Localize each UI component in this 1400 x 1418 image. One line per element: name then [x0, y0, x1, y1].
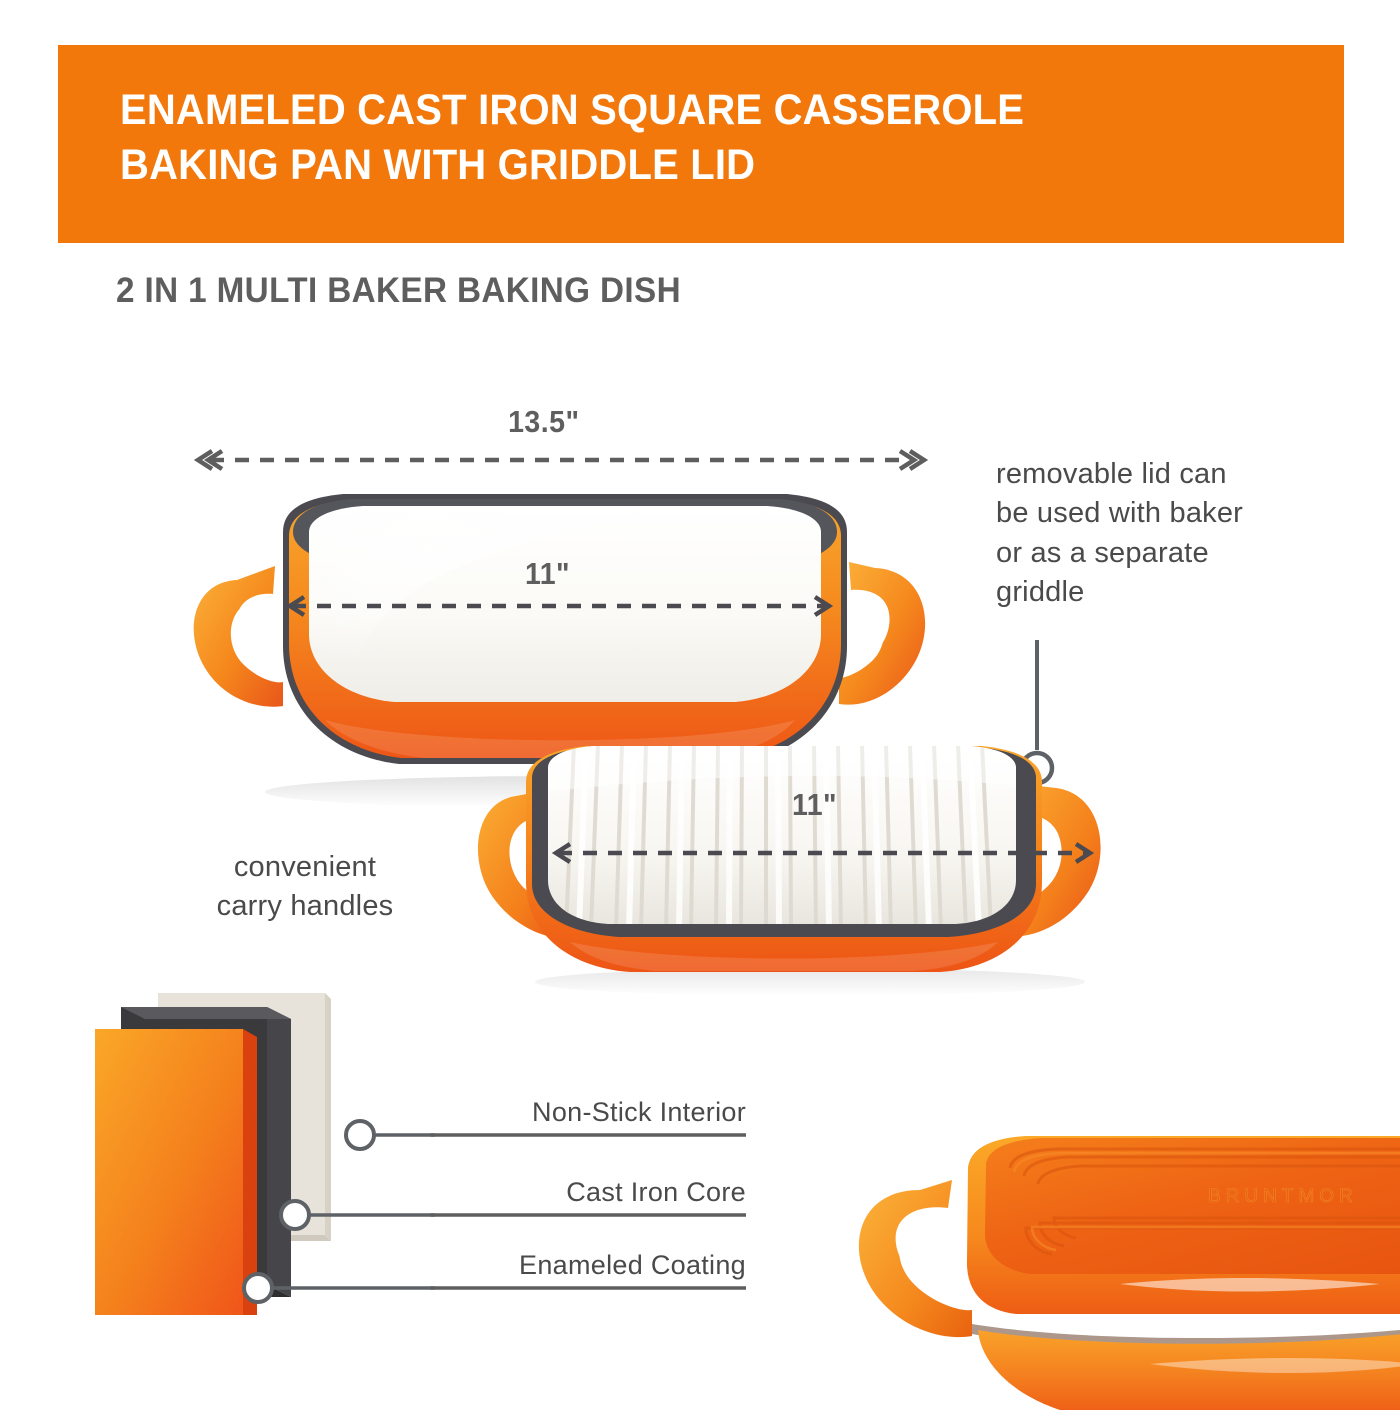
dimension-label-outer-width: 13.5" — [508, 404, 579, 440]
material-layers-diagram — [95, 985, 435, 1315]
callout-removable-lid: removable lid can be used with baker or … — [996, 455, 1346, 613]
casserole-handle-left — [859, 1180, 972, 1337]
layer-label-enameled-coating: Enameled Coating — [406, 1250, 746, 1281]
baker-handle-left — [194, 566, 285, 707]
callout-carry-handles: convenient carry handles — [180, 848, 430, 927]
dimension-arrow-baker-inner-width — [272, 594, 847, 618]
page-title: ENAMELED CAST IRON SQUARE CASSEROLE BAKI… — [120, 83, 1236, 193]
dimension-arrow-griddle-inner-width — [538, 841, 1108, 865]
brand-emboss-text: BRUNTMOR — [1208, 1186, 1358, 1207]
covered-casserole-illustration: BRUNTMOR — [820, 1128, 1400, 1418]
layer-enameled-coating — [95, 1029, 257, 1315]
header-banner: ENAMELED CAST IRON SQUARE CASSEROLE BAKI… — [58, 45, 1344, 243]
layer-label-rules — [430, 1120, 750, 1320]
dimension-label-baker-inner-width: 11" — [525, 556, 570, 592]
dimension-label-griddle-inner-width: 11" — [792, 787, 837, 823]
subtitle: 2 IN 1 MULTI BAKER BAKING DISH — [116, 271, 681, 311]
layer-label-non-stick: Non-Stick Interior — [406, 1097, 746, 1128]
griddle-lid-illustration — [470, 730, 1170, 1000]
dimension-arrow-outer-width — [186, 448, 936, 472]
layer-label-cast-iron: Cast Iron Core — [406, 1177, 746, 1208]
